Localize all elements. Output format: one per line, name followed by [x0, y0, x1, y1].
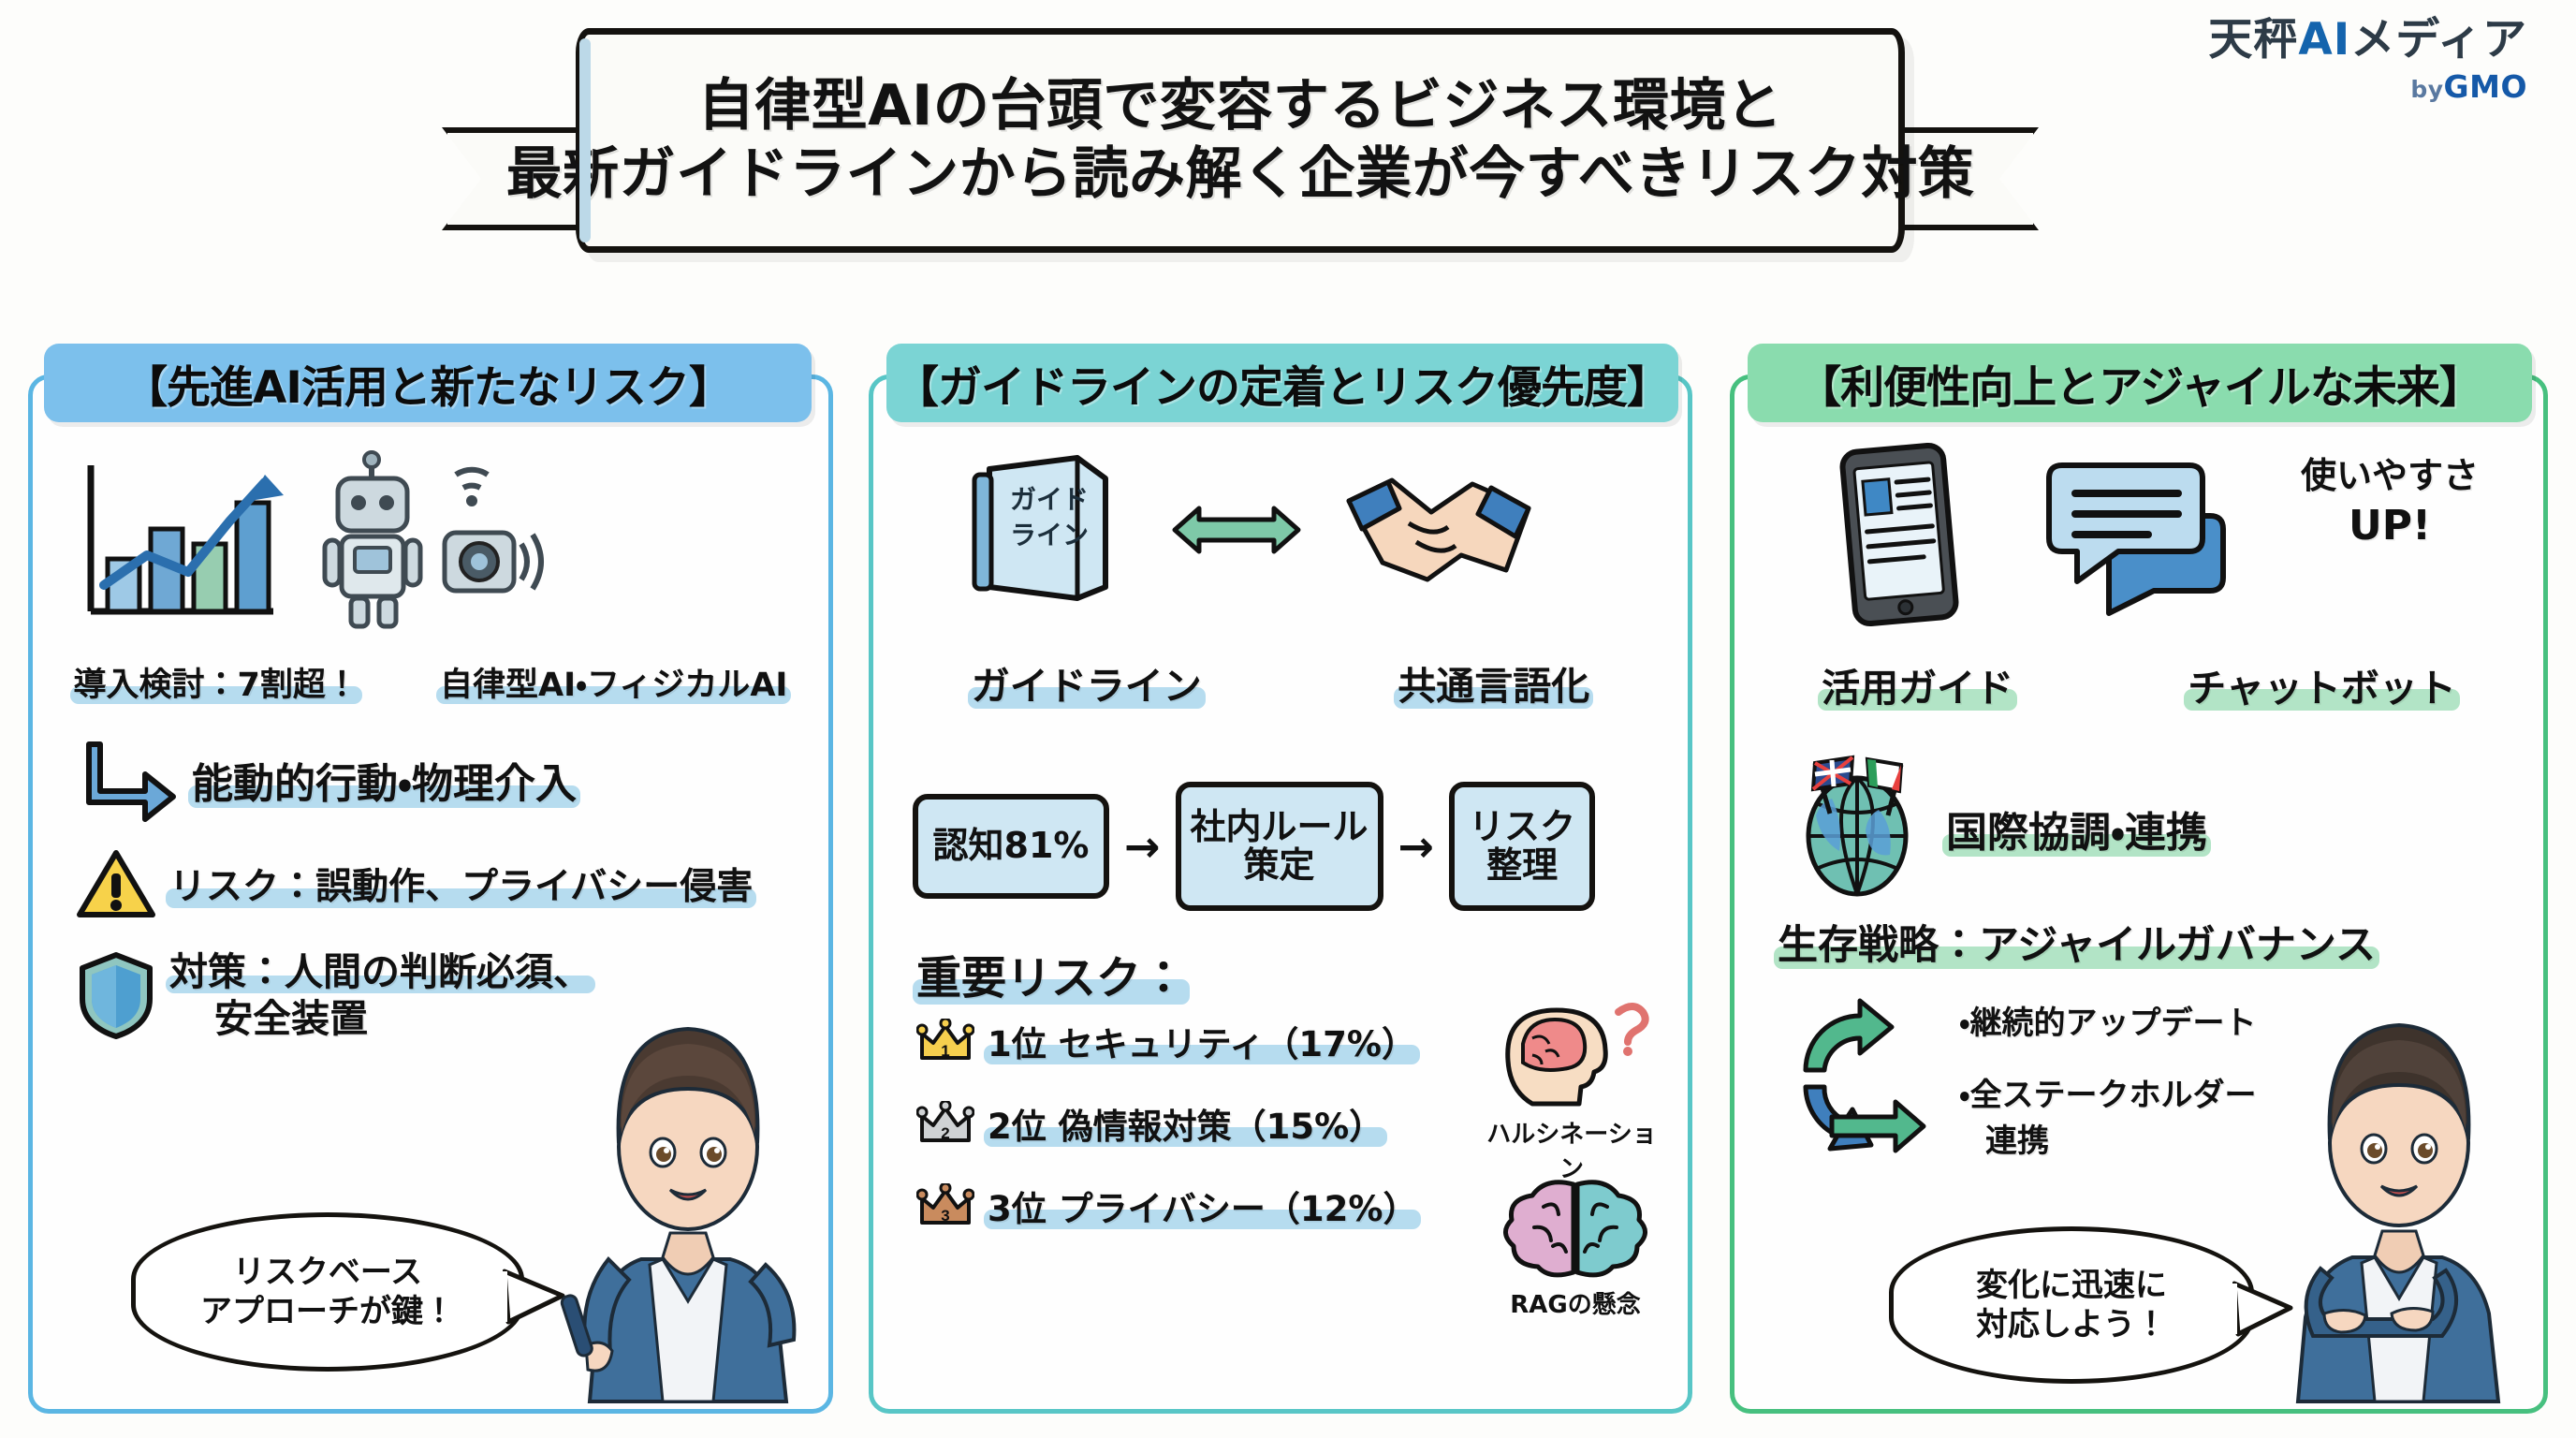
crown-bronze-icon: 3 — [916, 1183, 974, 1228]
brand-by-gmo: byGMO — [2208, 68, 2527, 105]
side-icon-rag: RAGの懸念 — [1491, 1175, 1660, 1320]
rank-title-wrap: 重要リスク： — [916, 941, 1186, 1006]
flow-arrow-2: → — [1398, 821, 1435, 872]
brand-by: by — [2410, 76, 2443, 103]
bullet-mark-2: ・ — [1959, 1077, 1970, 1114]
recycle-arrows-icon — [1783, 997, 1942, 1166]
caption-usage-guide: 活用ガイド — [1822, 656, 2013, 712]
rank-3-label: 3位 プライバシー（12%） — [988, 1181, 1417, 1231]
brand-name: 天秤AIメディア — [2208, 17, 2527, 63]
bullet-text-2-cont: 連携 — [1985, 1115, 2257, 1161]
rank-row-1: 1 1位 セキュリティ（17%） — [916, 1016, 1417, 1066]
rank-list: 1 1位 セキュリティ（17%） 2 2位 偽情報対策（15%） — [916, 1016, 1417, 1231]
bubble-3-line1: 変化に迅速に — [1976, 1266, 2167, 1306]
head-brain-question-icon — [1478, 997, 1665, 1109]
side-icon-hallucination-label: ハルシネーション — [1478, 1115, 1665, 1184]
banner-plate: 自律型AIの台頭で変容するビジネス環境と 最新ガイドラインから読み解く企業が今す… — [576, 28, 1905, 253]
row-risk-label-wrap: リスク：誤動作、プライバシー侵害 — [169, 858, 753, 910]
rank-2-wrap: 2位 偽情報対策（15%） — [988, 1098, 1383, 1149]
panel-3-header: 【利便性向上とアジャイルな未来】 — [1748, 344, 2532, 422]
row-countermeasure-text: 対策：人間の判断必須、 安全装置 — [169, 948, 592, 1042]
rank-1-wrap: 1位 セキュリティ（17%） — [988, 1016, 1416, 1066]
rank-title: 重要リスク： — [916, 941, 1186, 1006]
brand-prefix: 天秤 — [2208, 14, 2298, 66]
warning-triangle-icon — [76, 847, 156, 920]
panel-1-captions: 導入検討：7割超！ 自律型AI・フィジカルAI — [33, 658, 828, 706]
side-icon-rag-label: RAGの懸念 — [1491, 1285, 1660, 1320]
caption-common-language-label: 共通言語化 — [1398, 654, 1589, 711]
flow-arrow-1: → — [1124, 821, 1161, 872]
row-international-label: 国際協調・連携 — [1946, 799, 2207, 858]
panel-usability-agile-future: 【利便性向上とアジャイルな未来】 — [1730, 374, 2548, 1414]
handshake-icon — [1341, 443, 1538, 621]
crown-silver-icon: 2 — [916, 1101, 974, 1146]
rank-3-wrap: 3位 プライバシー（12%） — [988, 1181, 1417, 1231]
row-proactive-action: 能動的行動・物理介入 — [76, 737, 577, 823]
panel-advanced-ai-risk: 【先進AI活用と新たなリスク】 — [28, 374, 833, 1414]
bullet-text-2: 全ステークホルダー — [1970, 1077, 2257, 1114]
side-icon-hallucination: ハルシネーション — [1478, 997, 1665, 1184]
illustration-person-right — [2259, 969, 2539, 1409]
flow-step-awareness[interactable]: 認知81% — [913, 794, 1109, 899]
flow-step-internal-rules[interactable]: 社内ルール 策定 — [1176, 782, 1383, 911]
bullet-text-1: 継続的アップデート — [1970, 1005, 2257, 1042]
rank-row-3: 3 3位 プライバシー（12%） — [916, 1181, 1417, 1231]
up-note-line1: 使いやすさ — [2268, 447, 2511, 498]
caption-usage-guide-label: 活用ガイド — [1822, 656, 2013, 712]
flow-step-risk-organize-line2: 整理 — [1486, 846, 1558, 885]
flow-step-internal-rules-line1: 社内ルール — [1191, 808, 1368, 846]
row-proactive-action-label: 能動的行動・物理介入 — [192, 750, 577, 810]
brand-logo: 天秤AIメディア byGMO — [2208, 17, 2527, 105]
panel-3-captions: 活用ガイド チャットボット — [1734, 656, 2543, 712]
flow-step-awareness-label: 認知81% — [933, 827, 1090, 865]
caption-common-language: 共通言語化 — [1398, 654, 1589, 711]
row-countermeasure: 対策：人間の判断必須、 安全装置 — [76, 948, 592, 1042]
caption-guideline-label: ガイドライン — [972, 654, 1202, 711]
header-banner: 自律型AIの台頭で変容するビジネス環境と 最新ガイドラインから読み解く企業が今す… — [440, 7, 2041, 288]
row-risk-label: リスク：誤動作、プライバシー侵害 — [169, 858, 753, 910]
globe-flags-icon — [1778, 754, 1937, 903]
brand-ai: AI — [2298, 14, 2350, 66]
bubble-1-line2: アプローチが鍵！ — [200, 1292, 455, 1332]
row-risk: リスク：誤動作、プライバシー侵害 — [76, 847, 753, 920]
flow-step-risk-organize-line1: リスク — [1469, 808, 1575, 846]
speech-bubble-risk-based: リスクベース アプローチが鍵！ — [131, 1212, 524, 1372]
svg-text:ライン: ライン — [1010, 521, 1089, 550]
panel-2-captions: ガイドライン 共通言語化 — [873, 654, 1688, 711]
row-international-label-wrap: 国際協調・連携 — [1946, 799, 2207, 858]
panel-1-header: 【先進AI活用と新たなリスク】 — [44, 344, 812, 422]
up-note: 使いやすさ UP! — [2268, 447, 2511, 550]
row-survival-strategy-label: 生存戦略：アジャイルガバナンス — [1778, 913, 2376, 971]
guidebook-icon: ガイド ライン — [958, 447, 1135, 615]
caption-chatbot: チャットボット — [2188, 656, 2456, 712]
header-title-line1: 自律型AIの台頭で変容するビジネス環境と — [698, 72, 1783, 140]
svg-text:3: 3 — [941, 1207, 949, 1225]
brand-suffix: メディア — [2350, 14, 2527, 66]
crown-gold-icon: 1 — [916, 1019, 974, 1064]
bullet-item-2: ・全ステークホルダー — [1959, 1069, 2257, 1115]
up-note-line2: UP! — [2268, 502, 2511, 550]
countermeasure-line1: 対策：人間の判断必須、 — [169, 948, 592, 995]
rank-2-label: 2位 偽情報対策（15%） — [988, 1098, 1383, 1149]
flow-step-risk-organize[interactable]: リスク 整理 — [1449, 782, 1595, 911]
panel-3-title: 【利便性向上とアジャイルな未来】 — [1797, 351, 2482, 416]
header-title-line2: 最新ガイドラインから読み解く企業が今すべきリスク対策 — [506, 140, 1975, 209]
tablet-document-icon — [1824, 441, 1974, 628]
caption-adoption-label: 導入検討：7割超！ — [74, 658, 359, 706]
elbow-arrow-icon — [76, 737, 179, 823]
caption-chatbot-label: チャットボット — [2188, 656, 2456, 712]
panel-2-header: 【ガイドラインの定着とリスク優先度】 — [886, 344, 1678, 422]
row-survival-strategy-wrap: 生存戦略：アジャイルガバナンス — [1778, 913, 2376, 971]
panel-1-title: 【先進AI活用と新たなリスク】 — [124, 351, 732, 416]
svg-text:2: 2 — [941, 1124, 949, 1142]
countermeasure-line1-wrap: 対策：人間の判断必須、 — [169, 948, 592, 995]
speech-bubble-respond-quickly: 変化に迅速に 対応しよう！ — [1889, 1226, 2254, 1384]
robot-camera-icon — [314, 447, 548, 634]
flow-step-internal-rules-line2: 策定 — [1244, 846, 1315, 885]
bubble-1-line1: リスクベース — [233, 1253, 422, 1293]
caption-guideline: ガイドライン — [972, 654, 1202, 711]
countermeasure-line2: 安全装置 — [214, 995, 592, 1042]
chat-bubbles-icon — [2043, 445, 2240, 632]
row-international: 国際協調・連携 — [1778, 754, 2207, 903]
caption-autonomous-label: 自律型AI・フィジカルAI — [440, 658, 787, 706]
bullet-mark-1: ・ — [1959, 1005, 1970, 1042]
bar-chart-growth-icon — [72, 454, 287, 632]
row-proactive-action-label-wrap: 能動的行動・物理介入 — [192, 750, 577, 810]
shield-icon — [76, 950, 156, 1040]
bubble-3-line2: 対応しよう！ — [1976, 1305, 2167, 1345]
caption-autonomous-physical-ai: 自律型AI・フィジカルAI — [440, 658, 787, 706]
brand-gmo: GMO — [2444, 68, 2527, 105]
illustration-person-left — [552, 978, 824, 1409]
flow-chart: 認知81% → 社内ルール 策定 → リスク 整理 — [913, 782, 1595, 911]
bullet-list: ・継続的アップデート ・全ステークホルダー 連携 — [1959, 997, 2257, 1161]
svg-text:ガイド: ガイド — [1010, 485, 1089, 514]
svg-text:1: 1 — [941, 1042, 949, 1060]
panel-2-title: 【ガイドラインの定着とリスク優先度】 — [895, 351, 1670, 416]
caption-adoption: 導入検討：7割超！ — [74, 658, 359, 706]
bullet-item-1: ・継続的アップデート — [1959, 997, 2257, 1043]
rank-1-label: 1位 セキュリティ（17%） — [988, 1016, 1416, 1066]
double-arrow-icon — [1171, 499, 1302, 561]
split-brain-icon — [1491, 1175, 1660, 1278]
rank-row-2: 2 2位 偽情報対策（15%） — [916, 1098, 1417, 1149]
panel-guideline-priority: 【ガイドラインの定着とリスク優先度】 ガイド ライン — [869, 374, 1692, 1414]
